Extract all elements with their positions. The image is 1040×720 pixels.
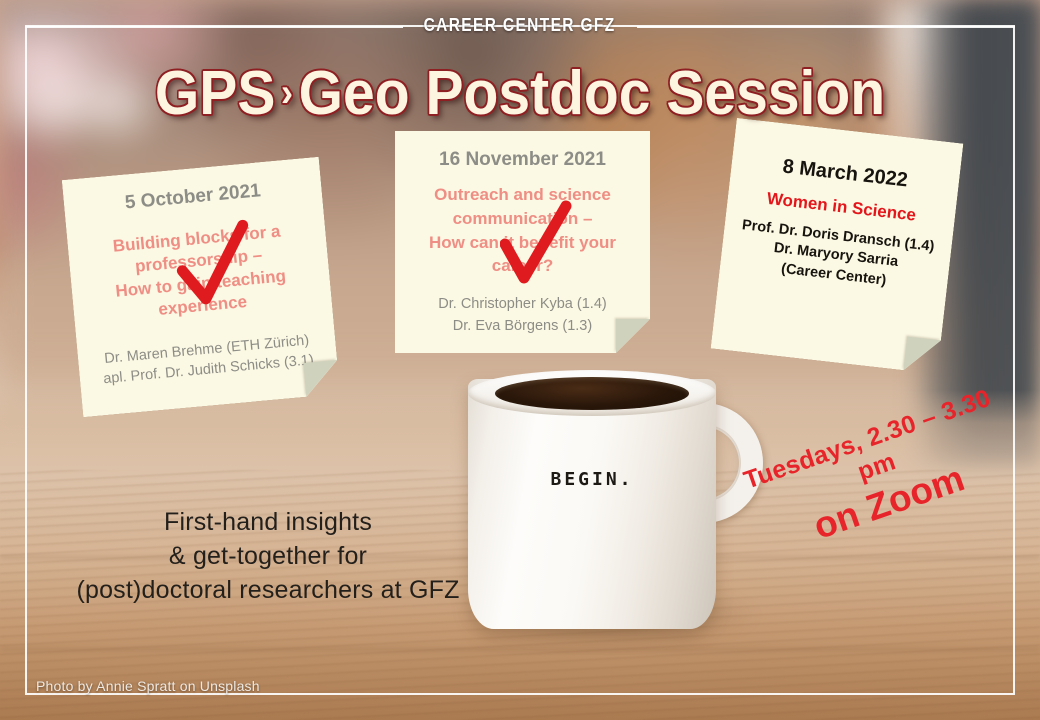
blurb-line-3: (post)doctoral researchers at GFZ bbox=[48, 573, 488, 607]
note-2-title-line: communication – bbox=[409, 207, 636, 231]
poster-canvas: BEGIN. CAREER CENTER GFZ GPS›Geo Postdoc… bbox=[0, 0, 1040, 720]
note-2-speaker: Dr. Eva Börgens (1.3) bbox=[409, 316, 636, 338]
photo-credit: Photo by Annie Spratt on Unsplash bbox=[36, 678, 260, 694]
note-1-speakers: Dr. Maren Brehme (ETH Zürich) apl. Prof.… bbox=[91, 329, 324, 391]
note-1-date: 5 October 2021 bbox=[77, 176, 308, 219]
note-3-content: 8 March 2022 Women in Science Prof. Dr. … bbox=[711, 118, 964, 374]
coffee-surface bbox=[495, 377, 689, 410]
mug-body bbox=[468, 379, 716, 629]
note-2-title-line: career? bbox=[409, 254, 636, 278]
note-2-title: Outreach and science communication – How… bbox=[409, 183, 636, 278]
note-1-content: 5 October 2021 Building blocks for a pro… bbox=[62, 157, 341, 417]
header-organisation-label: CAREER CENTER GFZ bbox=[412, 15, 628, 36]
note-2-date: 16 November 2021 bbox=[409, 149, 636, 171]
session-note-3[interactable]: 8 March 2022 Women in Science Prof. Dr. … bbox=[711, 118, 964, 374]
note-1-title: Building blocks for a professorship – Ho… bbox=[81, 218, 318, 328]
session-note-1[interactable]: 5 October 2021 Building blocks for a pro… bbox=[62, 157, 341, 417]
session-note-2[interactable]: 16 November 2021 Outreach and science co… bbox=[395, 131, 650, 353]
blurb-line-2: & get-together for bbox=[48, 539, 488, 573]
note-2-content: 16 November 2021 Outreach and science co… bbox=[395, 131, 650, 353]
blurb-line-1: First-hand insights bbox=[48, 505, 488, 539]
note-3-speakers: Prof. Dr. Doris Dransch (1.4) Dr. Maryor… bbox=[733, 216, 938, 297]
title-part-gps: GPS bbox=[155, 59, 275, 128]
note-2-speaker: Dr. Christopher Kyba (1.4) bbox=[409, 294, 636, 316]
poster-blurb: First-hand insights & get-together for (… bbox=[48, 505, 488, 607]
note-2-title-line: How can it benefit your bbox=[409, 231, 636, 255]
header-organisation: CAREER CENTER GFZ bbox=[0, 15, 1040, 36]
chevron-right-icon: › bbox=[275, 71, 298, 115]
note-2-speakers: Dr. Christopher Kyba (1.4) Dr. Eva Börge… bbox=[409, 294, 636, 338]
title-part-subtitle: Geo Postdoc Session bbox=[299, 59, 885, 128]
note-2-title-line: Outreach and science bbox=[409, 183, 636, 207]
mug-begin-text: BEGIN. bbox=[468, 469, 716, 490]
page-title: GPS›Geo Postdoc Session bbox=[42, 58, 999, 129]
